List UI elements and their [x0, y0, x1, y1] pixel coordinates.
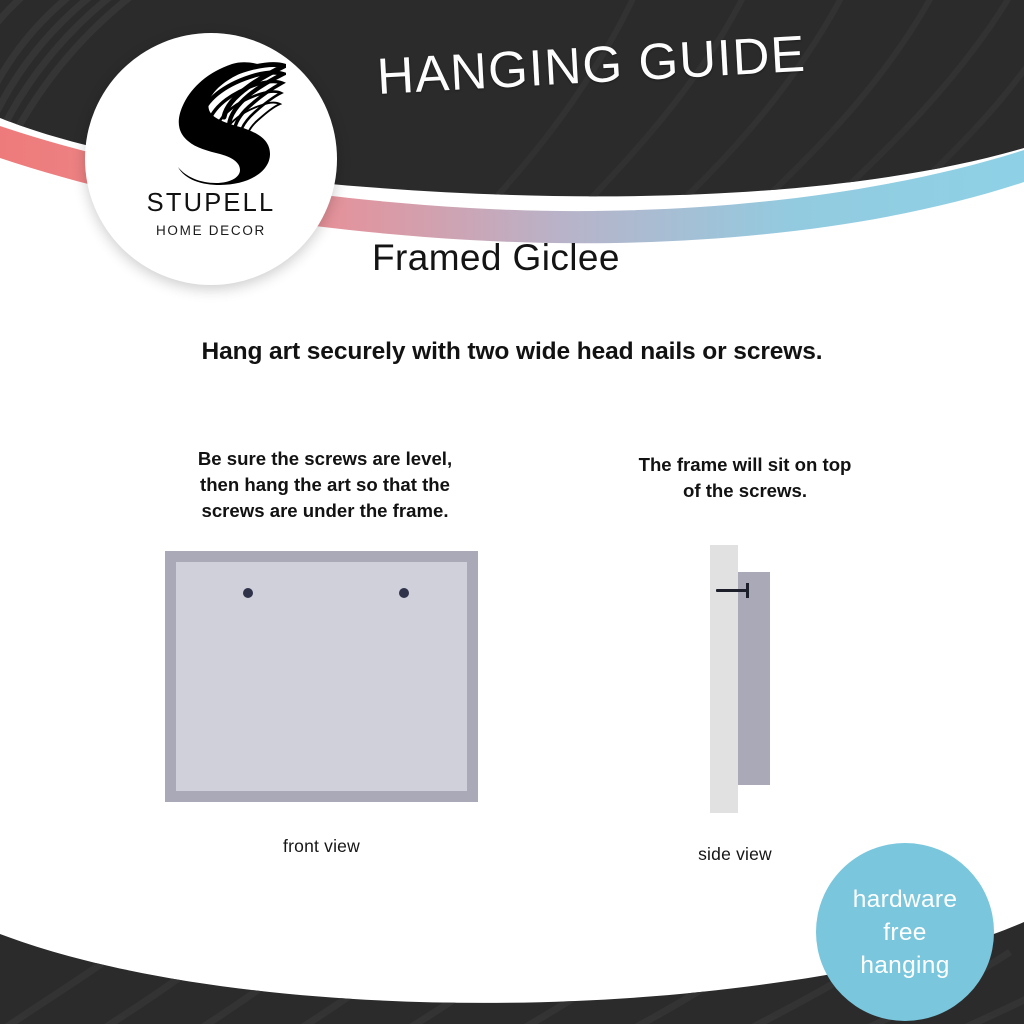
hanging-guide-poster: HANGING GUIDE STUPELL HOME DECOR Framed … — [0, 0, 1024, 1024]
side-view-wall — [710, 545, 738, 813]
lead-instruction: Hang art securely with two wide head nai… — [0, 338, 1024, 366]
front-view-artwork-mat — [176, 562, 467, 791]
side-view-diagram — [700, 540, 810, 825]
nail-side-profile-icon — [716, 589, 748, 592]
badge-line-3: hanging — [853, 949, 958, 982]
badge-line-1: hardware — [853, 883, 958, 916]
brand-tagline: HOME DECOR — [156, 223, 266, 238]
front-view-frame-diagram — [165, 551, 478, 802]
screw-dot-left — [243, 588, 253, 598]
front-view-caption: front view — [165, 836, 478, 857]
side-view-caption: side view — [680, 844, 790, 865]
nail-head-icon — [746, 583, 749, 598]
product-type-title: Framed Giclee — [372, 237, 620, 279]
side-view-instruction-line-1: The frame will sit on top — [600, 452, 890, 478]
badge-line-2: free — [853, 916, 958, 949]
front-view-instruction-line-2: then hang the art so that the — [160, 472, 490, 498]
side-view-instructions: The frame will sit on top of the screws. — [600, 452, 890, 504]
brand-logo-badge: STUPELL HOME DECOR — [85, 33, 337, 285]
front-view-instructions: Be sure the screws are level, then hang … — [160, 446, 490, 524]
front-view-instruction-line-3: screws are under the frame. — [160, 498, 490, 524]
front-view-instruction-line-1: Be sure the screws are level, — [160, 446, 490, 472]
hardware-free-hanging-badge-text: hardware free hanging — [853, 883, 958, 982]
side-view-instruction-line-2: of the screws. — [600, 478, 890, 504]
side-view-frame-profile — [738, 572, 770, 785]
stupell-swirl-logo-icon — [136, 59, 286, 185]
screw-dot-right — [399, 588, 409, 598]
hardware-free-hanging-badge: hardware free hanging — [816, 843, 994, 1021]
brand-name: STUPELL — [147, 189, 276, 218]
